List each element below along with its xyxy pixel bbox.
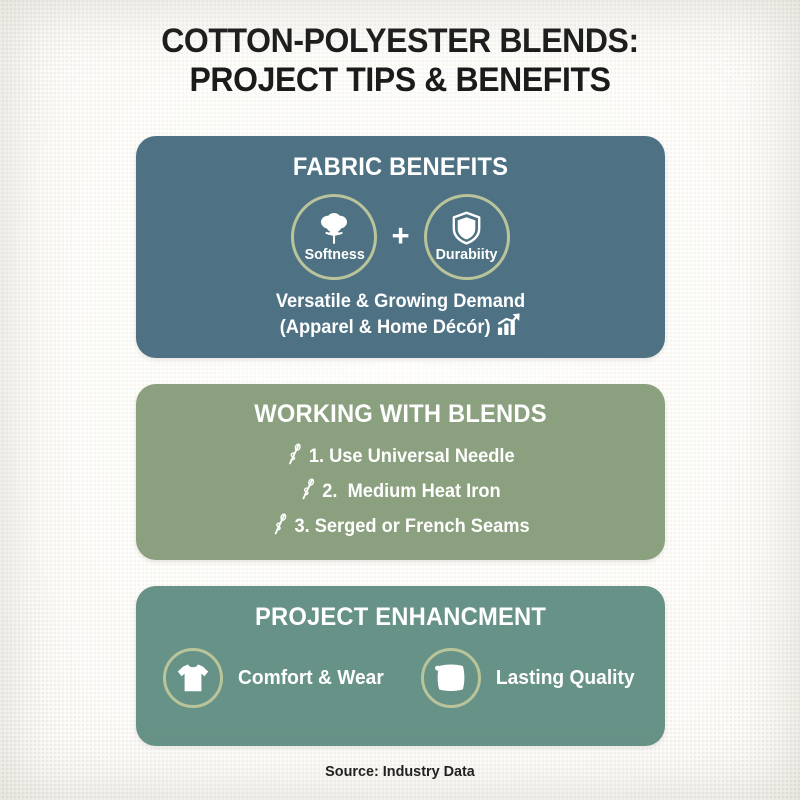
list-item-text: 2. Medium Heat Iron [322, 481, 500, 503]
tips-list: 1. Use Universal Needle 2. Medium Heat I… [136, 443, 665, 541]
page-title-line-2: PROJECT TIPS & BENEFITS [24, 61, 776, 100]
pillow-icon-circle [421, 648, 481, 708]
page-title-line-1: COTTON-POLYESTER BLENDS: [161, 22, 639, 60]
tshirt-icon-circle [163, 648, 223, 708]
infographic-page: COTTON-POLYESTER BLENDS: PROJECT TIPS & … [0, 0, 800, 800]
panel-enhancement-heading: PROJECT ENHANCMENT [149, 586, 652, 632]
benefit-circle-softness[interactable]: Softness [291, 194, 377, 280]
enhancement-items-row: Comfort & Wear Lasting Quality [136, 648, 665, 708]
source-note: Source: Industry Data [16, 763, 784, 780]
cotton-boll-icon [317, 211, 351, 245]
list-item[interactable]: 3. Serged or French Seams [272, 513, 529, 541]
benefit-circles-row: Softness + Durabiity [136, 194, 665, 280]
benefit-circle-durability-label: Durabiity [436, 246, 498, 263]
needle-thread-icon [287, 443, 302, 471]
panel-project-enhancement: PROJECT ENHANCMENT Comfort & Wear La [136, 586, 665, 746]
needle-thread-icon [300, 478, 315, 506]
list-item-text: 3. Serged or French Seams [294, 516, 529, 538]
panel-fabric-benefits-heading: FABRIC BENEFITS [149, 136, 652, 182]
enhancement-item-comfort[interactable]: Comfort & Wear [163, 648, 387, 708]
benefit-circle-durability[interactable]: Durabiity [424, 194, 510, 280]
benefits-caption-line-1: Versatile & Growing Demand [147, 290, 655, 313]
panel-fabric-benefits: FABRIC BENEFITS Softne [136, 136, 665, 358]
plus-connector-icon: + [391, 220, 409, 255]
needle-thread-icon [272, 513, 287, 541]
enhancement-item-comfort-label: Comfort & Wear [238, 667, 384, 690]
page-title: COTTON-POLYESTER BLENDS: PROJECT TIPS & … [24, 22, 776, 100]
enhancement-item-quality[interactable]: Lasting Quality [421, 648, 637, 708]
panel-working-heading: WORKING WITH BLENDS [149, 384, 652, 429]
benefit-circle-softness-label: Softness [304, 246, 364, 263]
benefits-caption: Versatile & Growing Demand (Apparel & Ho… [147, 290, 655, 342]
list-item-text: 1. Use Universal Needle [309, 446, 515, 468]
benefits-caption-line-2: (Apparel & Home Décór) [280, 316, 491, 339]
panel-working-with-blends: WORKING WITH BLENDS 1. Use Universal Nee… [136, 384, 665, 560]
list-item[interactable]: 2. Medium Heat Iron [300, 478, 500, 506]
shield-icon [451, 211, 482, 245]
growth-chart-icon [497, 313, 521, 342]
enhancement-item-quality-label: Lasting Quality [496, 667, 635, 690]
list-item[interactable]: 1. Use Universal Needle [287, 443, 515, 471]
